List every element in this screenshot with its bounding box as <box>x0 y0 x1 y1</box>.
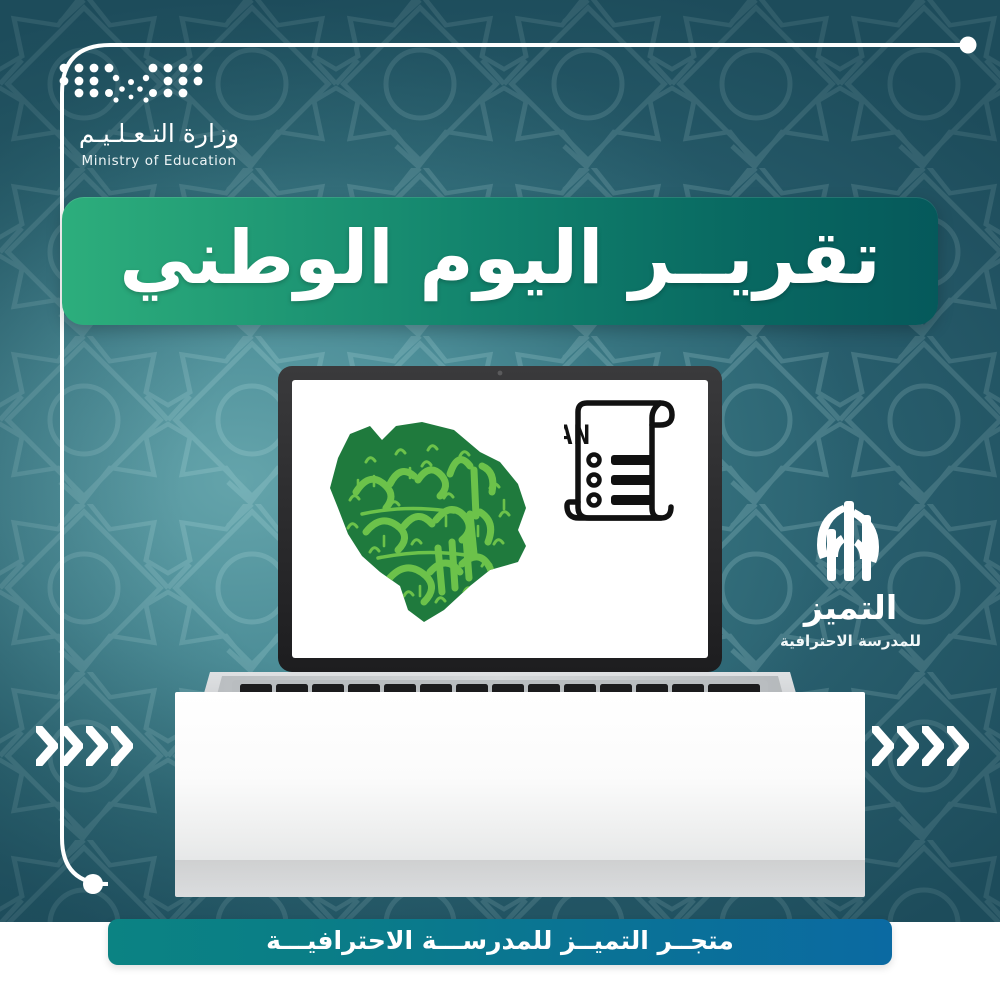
ministry-logo: وزارة التـعـلـيـم Ministry of Education <box>34 58 284 169</box>
page-title: تقريــر اليوم الوطني <box>119 221 880 301</box>
chevron-group-right <box>872 726 969 766</box>
brand-logo: التميز للمدرسة الاحترافية <box>753 495 948 650</box>
poster-canvas: وزارة التـعـلـيـم Ministry of Education … <box>0 0 1000 1000</box>
footer-bar: متجــر التميــز للمدرســـة الاحترافيـــة <box>108 919 892 965</box>
chevron-right-icon <box>61 726 83 766</box>
plan-heading: PLAN <box>564 420 591 451</box>
laptop-screen: PLAN <box>298 382 702 642</box>
ministry-name-en: Ministry of Education <box>34 153 284 169</box>
altamayuz-monogram <box>810 495 892 581</box>
chevron-group-left <box>36 726 133 766</box>
ministry-name-ar: وزارة التـعـلـيـم <box>34 120 284 148</box>
saudi-arabia-map <box>304 396 554 636</box>
brand-tagline: للمدرسة الاحترافية <box>753 632 948 650</box>
plan-scroll-icon: PLAN <box>564 396 684 536</box>
chevron-right-icon <box>111 726 133 766</box>
chevron-right-icon <box>872 726 894 766</box>
chevron-right-icon <box>922 726 944 766</box>
footer-text: متجــر التميــز للمدرســـة الاحترافيـــة <box>266 928 734 956</box>
moe-dots-logo <box>56 58 206 104</box>
chevron-right-icon <box>947 726 969 766</box>
title-banner: تقريــر اليوم الوطني <box>62 197 938 325</box>
chevron-right-icon <box>86 726 108 766</box>
pedestal-shadow <box>175 860 865 900</box>
chevron-right-icon <box>36 726 58 766</box>
brand-name: التميز <box>753 591 948 624</box>
chevron-right-icon <box>897 726 919 766</box>
